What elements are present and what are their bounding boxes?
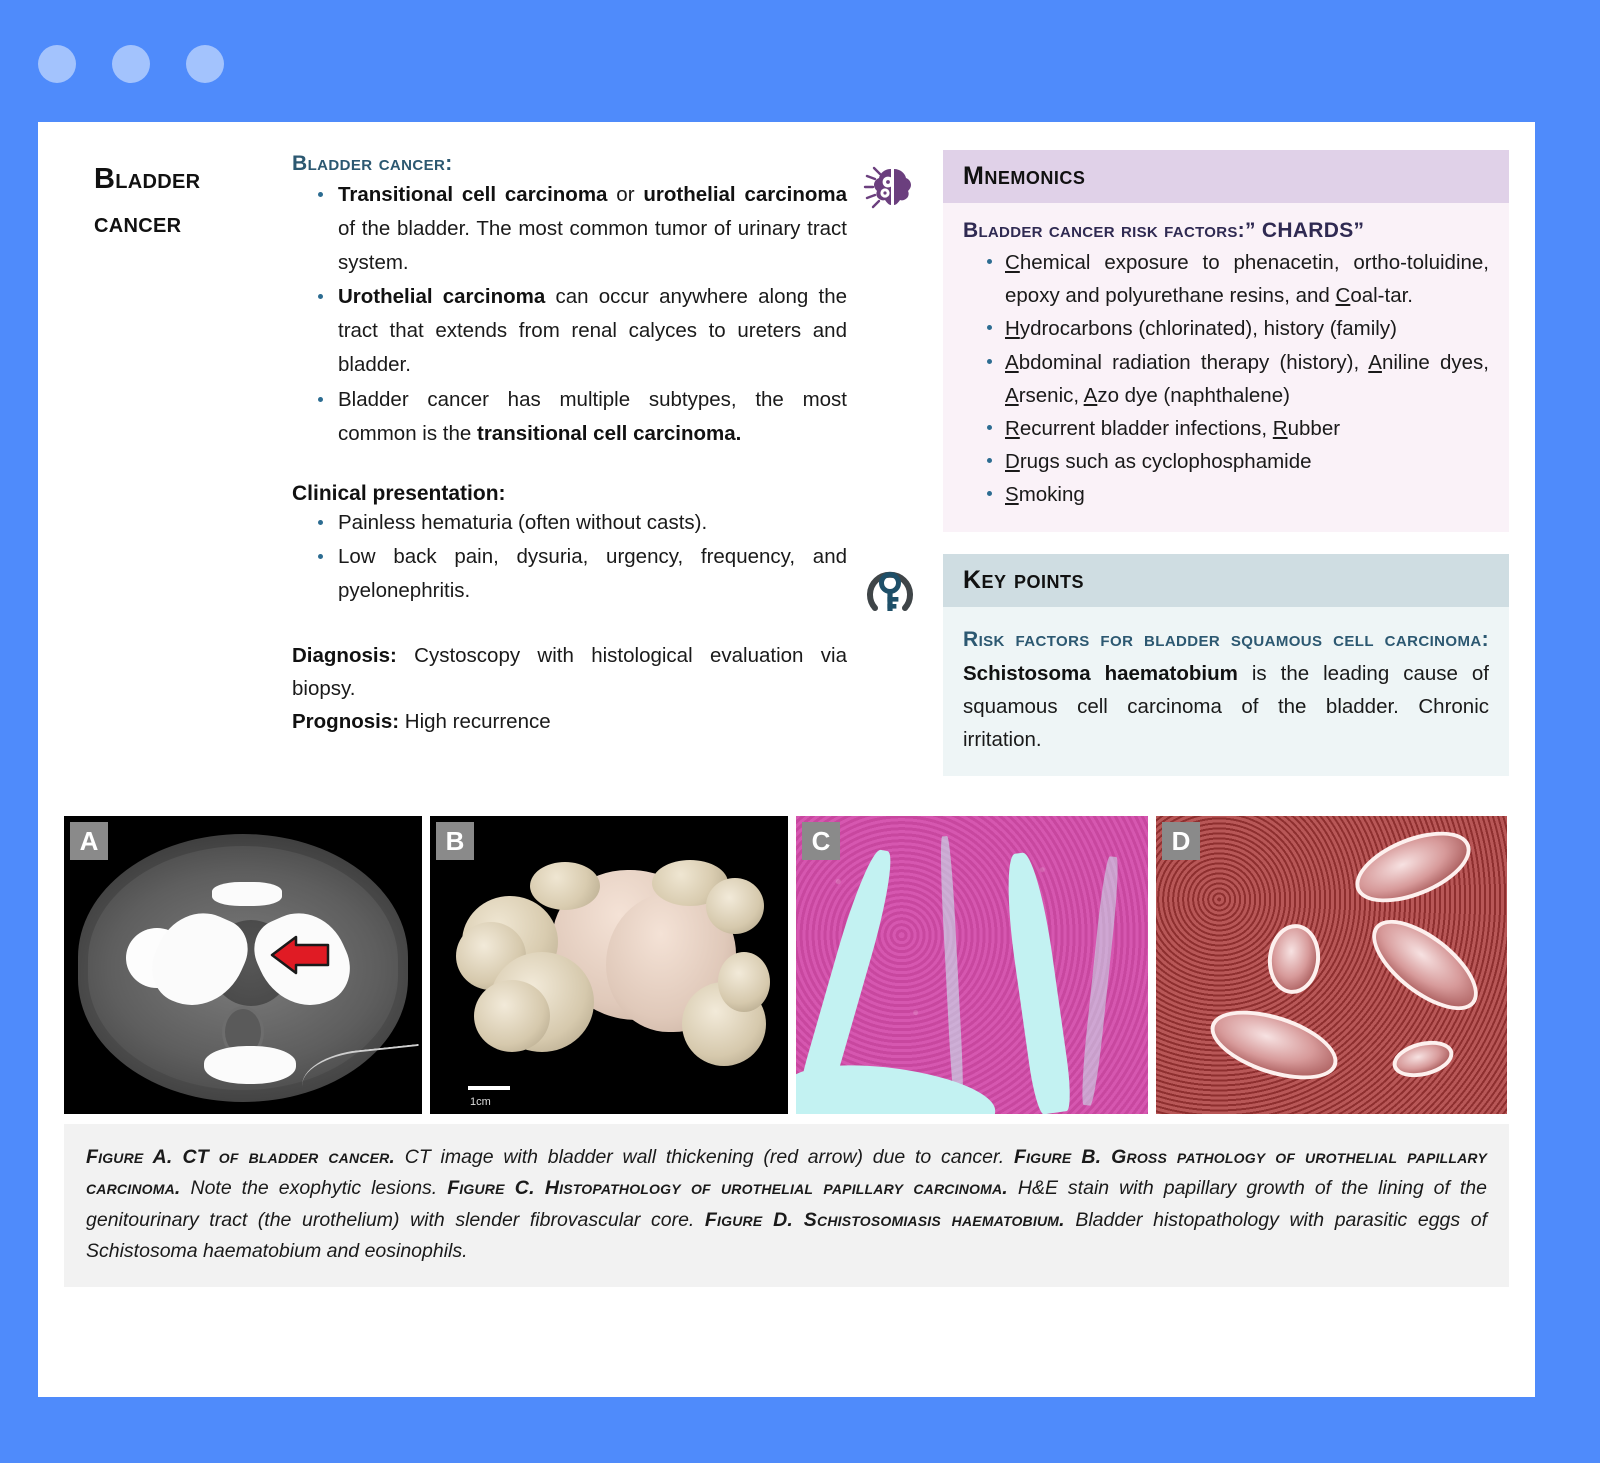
figure-strip: A 1cm B: [38, 816, 1535, 1114]
figure-c-histology[interactable]: C: [796, 816, 1148, 1114]
key-points-body: Risk factors for bladder squamous cell c…: [943, 607, 1509, 777]
mnemonic-item-4: Drugs such as cyclophosphamide: [979, 445, 1489, 478]
mnemonic-item-0: Chemical exposure to phenacetin, ortho-t…: [979, 246, 1489, 312]
key-points-body-wrap: Key points Risk factors for bladder squa…: [943, 554, 1509, 777]
window-controls: [38, 45, 224, 83]
right-panels-column: Mnemonics Bladder cancer risk factors:” …: [847, 146, 1509, 798]
bullet-overview-1: Urothelial carcinoma can occur anywhere …: [310, 280, 847, 381]
key-circle-icon: [853, 556, 927, 630]
mnemonics-subtitle-quoted: ” CHARDS”: [1245, 219, 1364, 242]
page-title: Bladder cancer: [94, 158, 292, 245]
mnemonics-subtitle: Bladder cancer risk factors:” CHARDS”: [963, 219, 1489, 243]
prognosis-text: High recurrence: [399, 710, 551, 733]
key-points-bold-term: Schistosoma haematobium: [963, 662, 1238, 685]
window-dot-1[interactable]: [38, 45, 76, 83]
mnemonics-body: Bladder cancer risk factors:” CHARDS” Ch…: [943, 203, 1509, 532]
caption-run-6: Figure D. Schistosomiasis haematobium.: [705, 1209, 1065, 1231]
figure-a-ct[interactable]: A: [64, 816, 422, 1114]
figure-label-c: C: [802, 822, 840, 860]
scale-bar: [468, 1086, 510, 1090]
content-card: Bladder cancer Bladder cancer: Transitio…: [38, 122, 1535, 1397]
prognosis-label: Prognosis:: [292, 710, 399, 733]
key-points-text: Risk factors for bladder squamous cell c…: [963, 623, 1489, 757]
key-points-panel: Key points Risk factors for bladder squa…: [855, 554, 1509, 777]
mnemonic-item-3: Recurrent bladder infections, Rubber: [979, 412, 1489, 445]
section-heading-bladder-cancer: Bladder cancer:: [292, 152, 847, 176]
figure-caption: Figure A. CT of bladder cancer. CT image…: [64, 1124, 1509, 1287]
window-dot-2[interactable]: [112, 45, 150, 83]
figure-b-gross[interactable]: 1cm B: [430, 816, 788, 1114]
top-region: Bladder cancer Bladder cancer: Transitio…: [38, 122, 1535, 798]
bullet-overview-2: Bladder cancer has multiple subtypes, th…: [310, 383, 847, 451]
window-dot-3[interactable]: [186, 45, 224, 83]
mnemonics-body-wrap: Mnemonics Bladder cancer risk factors:” …: [943, 150, 1509, 532]
brain-gears-icon: [853, 152, 927, 226]
bullet-overview-0: Transitional cell carcinoma or urothelia…: [310, 178, 847, 279]
diagnosis-label: Diagnosis:: [292, 644, 397, 667]
bullet-list-overview: Transitional cell carcinoma or urothelia…: [310, 178, 847, 451]
caption-run-1: CT image with bladder wall thickening (r…: [395, 1146, 1014, 1168]
mnemonic-item-5: Smoking: [979, 478, 1489, 511]
bullet-list-clinical: Painless hematuria (often without casts)…: [310, 506, 847, 608]
mnemonic-item-2: Abdominal radiation therapy (history), A…: [979, 346, 1489, 412]
mnemonics-list: Chemical exposure to phenacetin, ortho-t…: [979, 246, 1489, 512]
title-column: Bladder cancer: [64, 146, 292, 798]
diagnosis-paragraph: Diagnosis: Cystoscopy with histological …: [292, 639, 847, 705]
bullet-clinical-0: Painless hematuria (often without casts)…: [310, 506, 847, 540]
prognosis-paragraph: Prognosis: High recurrence: [292, 705, 847, 738]
key-points-lead: Risk factors for bladder squamous cell c…: [963, 628, 1489, 651]
caption-run-3: Note the exophytic lesions.: [181, 1177, 448, 1199]
figure-label-d: D: [1162, 822, 1200, 860]
caption-run-0: Figure A. CT of bladder cancer.: [86, 1146, 395, 1168]
figure-label-b: B: [436, 822, 474, 860]
figure-label-a: A: [70, 822, 108, 860]
red-arrow-annotation: [268, 934, 330, 976]
caption-run-4: Figure C. Histopathology of urothelial p…: [447, 1177, 1008, 1199]
bullet-clinical-1: Low back pain, dysuria, urgency, frequen…: [310, 540, 847, 608]
mnemonics-header: Mnemonics: [943, 150, 1509, 203]
mnemonics-subtitle-sc: Bladder cancer risk factors:: [963, 219, 1245, 242]
section-heading-clinical-presentation: Clinical presentation:: [292, 482, 847, 506]
key-points-header: Key points: [943, 554, 1509, 607]
mnemonic-item-1: Hydrocarbons (chlorinated), history (fam…: [979, 312, 1489, 345]
mnemonics-panel: Mnemonics Bladder cancer risk factors:” …: [855, 150, 1509, 532]
figure-d-schistosoma[interactable]: D: [1156, 816, 1507, 1114]
main-text-column: Bladder cancer: Transitional cell carcin…: [292, 146, 847, 798]
scale-bar-label: 1cm: [470, 1096, 491, 1108]
